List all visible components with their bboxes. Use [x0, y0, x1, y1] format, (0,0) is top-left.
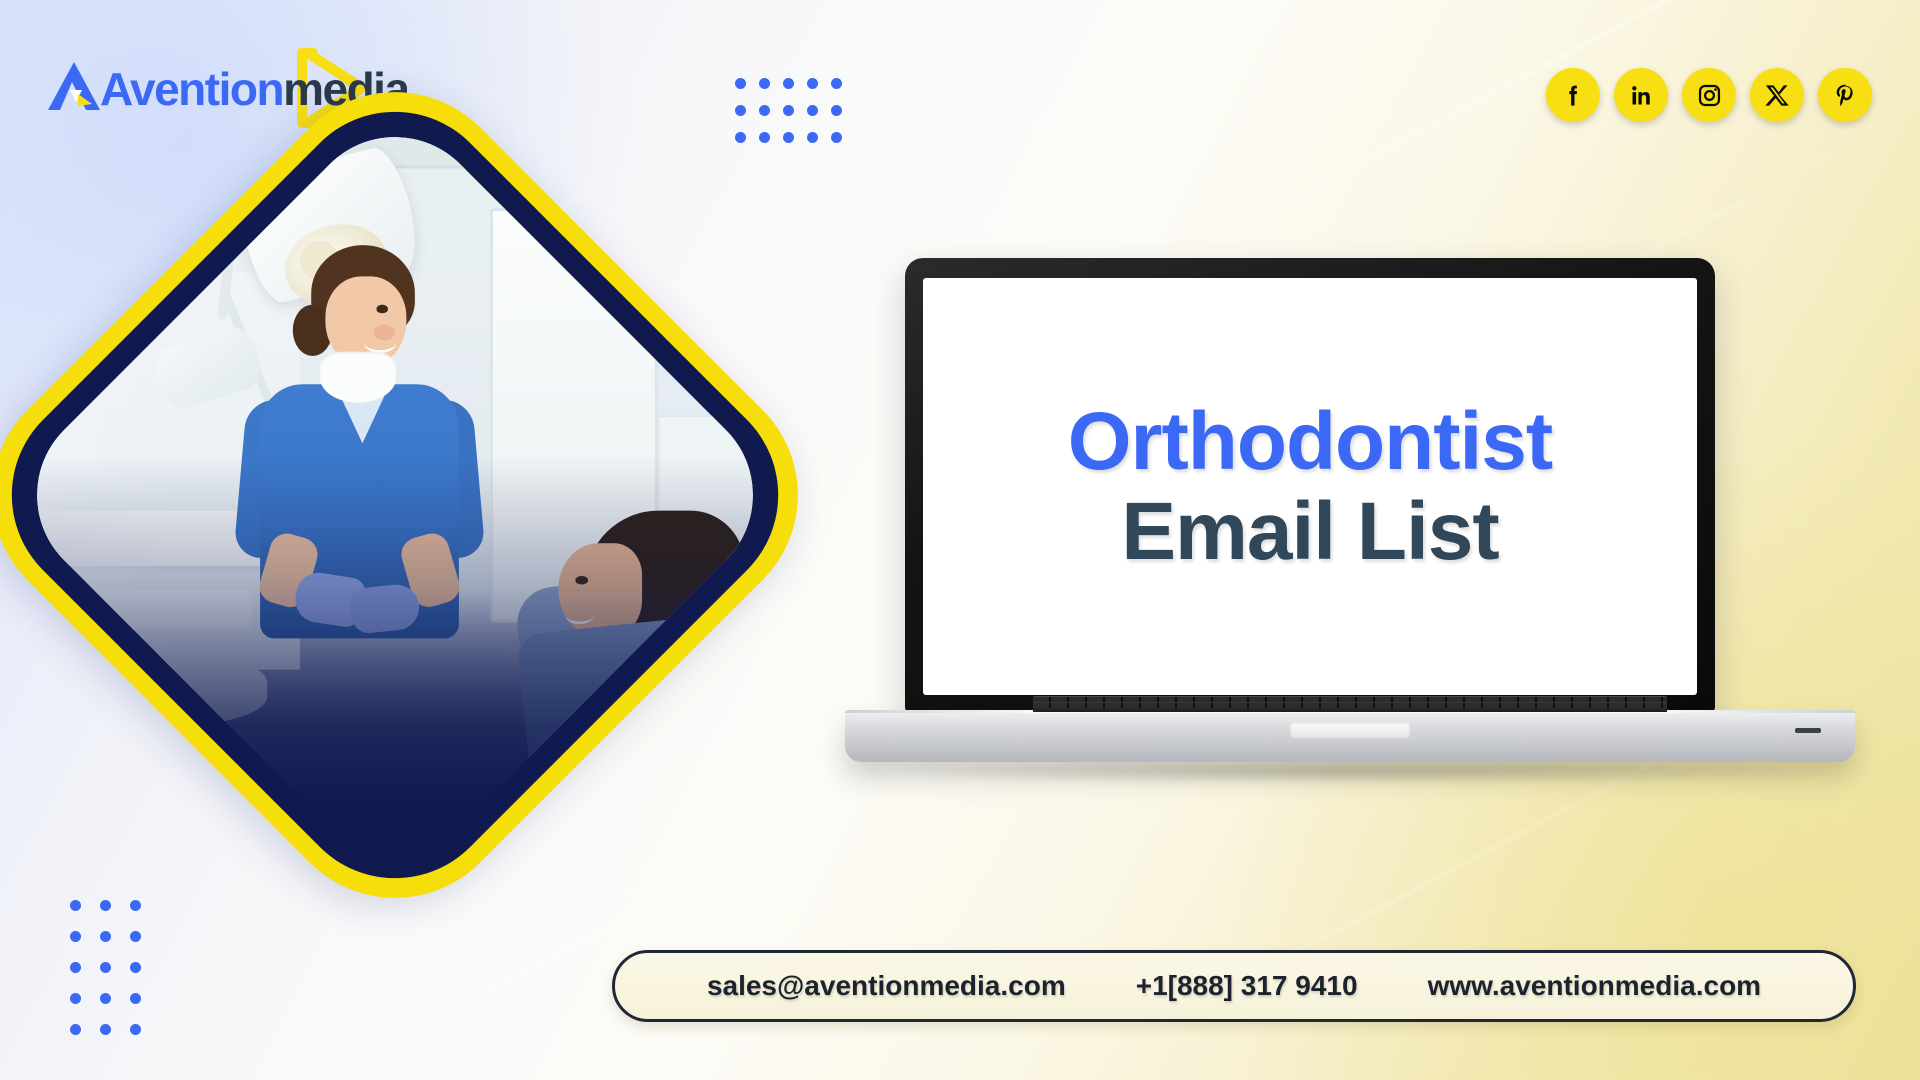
- promo-banner: Aventionmedia: [0, 0, 1920, 1080]
- clinic-scene: [0, 99, 791, 891]
- x-twitter-icon: [1764, 82, 1791, 109]
- decorative-dot-grid-bottom: [70, 900, 160, 1055]
- facebook-icon: [1560, 82, 1587, 109]
- hero-headline: Orthodontist Email List: [1068, 400, 1552, 573]
- laptop-port-indicator: [1795, 728, 1821, 733]
- diamond-photo-frame: [75, 175, 715, 815]
- headline-line-2: Email List: [1068, 490, 1552, 574]
- contact-email[interactable]: sales@aventionmedia.com: [707, 970, 1066, 1002]
- laptop-keyboard: [1033, 696, 1667, 712]
- pinterest-icon: [1832, 82, 1859, 109]
- social-link-facebook[interactable]: [1546, 68, 1600, 122]
- contact-phone[interactable]: +1[888] 317 9410: [1136, 970, 1358, 1002]
- linkedin-icon: [1628, 82, 1655, 109]
- social-link-linkedin[interactable]: [1614, 68, 1668, 122]
- laptop-front-latch: [1290, 722, 1410, 738]
- social-link-x-twitter[interactable]: [1750, 68, 1804, 122]
- contact-bar: sales@aventionmedia.com +1[888] 317 9410…: [612, 950, 1856, 1022]
- social-link-instagram[interactable]: [1682, 68, 1736, 122]
- social-links: [1546, 68, 1872, 122]
- laptop-mockup: Orthodontist Email List: [845, 258, 1855, 878]
- brand-wordmark-avention: Avention: [100, 63, 283, 115]
- laptop-base: [845, 710, 1855, 762]
- avention-a-mark-icon: [48, 60, 108, 116]
- clinic-photo: [0, 99, 791, 891]
- social-link-pinterest[interactable]: [1818, 68, 1872, 122]
- contact-website[interactable]: www.aventionmedia.com: [1428, 970, 1761, 1002]
- decorative-dot-grid-top: [735, 78, 855, 159]
- instagram-icon: [1696, 82, 1723, 109]
- laptop-screen: Orthodontist Email List: [923, 278, 1697, 695]
- laptop-lid: Orthodontist Email List: [905, 258, 1715, 713]
- headline-line-1: Orthodontist: [1068, 400, 1552, 484]
